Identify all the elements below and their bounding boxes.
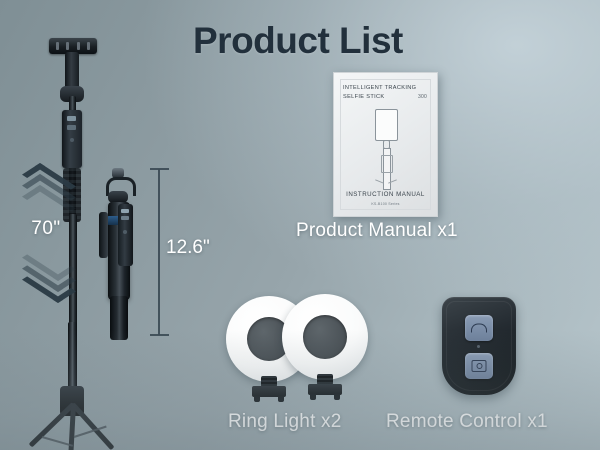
ring-light-mount-2 — [308, 374, 342, 400]
mount-foot-left-1 — [254, 396, 260, 402]
tripod-leg-left — [71, 402, 115, 450]
control-button-bottom — [67, 125, 76, 130]
product-list-infographic: Product List 70" — [0, 0, 600, 450]
height-dimension-70: 70" — [18, 168, 74, 298]
caption-product-manual: Product Manual x1 — [296, 220, 458, 242]
shutter-icon — [471, 324, 487, 333]
manual-cover-illustration — [369, 109, 403, 191]
camera-icon — [472, 360, 487, 372]
ring-light-inner-2 — [303, 315, 347, 359]
height-dimension-label: 70" — [18, 218, 74, 240]
folded-button-bottom — [121, 216, 129, 220]
selfie-stick-folded — [98, 168, 146, 340]
ring-light-mount-1 — [252, 376, 286, 402]
mount-foot-right-1 — [278, 396, 284, 402]
folded-side-clip — [99, 212, 108, 258]
caption-ring-light: Ring Light x2 — [228, 411, 342, 433]
remote-camera-button — [465, 353, 493, 379]
manual-cover-line2: SELFIE STICK — [343, 94, 385, 100]
remote-control-device — [442, 297, 516, 395]
illustration-grip — [381, 155, 393, 173]
mount-foot-left-2 — [310, 394, 316, 400]
length-dimension-label: 12.6" — [166, 237, 210, 259]
pole-segment-lower — [68, 322, 77, 392]
ring-light-2 — [282, 294, 368, 380]
folded-button-top — [121, 209, 129, 213]
manual-cover-code: 300 — [418, 94, 427, 100]
page-title: Product List — [193, 20, 403, 62]
length-dimension-126: 12.6" — [150, 167, 194, 337]
control-led — [70, 138, 74, 142]
control-button-top — [67, 116, 76, 121]
caption-remote-control: Remote Control x1 — [386, 411, 548, 433]
mount-foot-right-2 — [334, 394, 340, 400]
chevron-up-icon — [18, 168, 74, 210]
folded-control-panel — [118, 204, 133, 266]
remote-led — [477, 345, 480, 348]
folded-lower-shaft — [110, 296, 128, 340]
dimension-line — [158, 169, 160, 335]
chevron-down-icon — [18, 256, 74, 298]
folded-led — [123, 230, 127, 234]
manual-cover-line1: INTELLIGENT TRACKING — [343, 85, 416, 91]
remote-shutter-button — [465, 315, 493, 341]
illustration-phone — [375, 109, 398, 141]
product-manual-booklet: INTELLIGENT TRACKING SELFIE STICK 300 IN… — [333, 72, 438, 217]
manual-footer-line2: KS-B100 Series — [334, 202, 437, 206]
control-panel — [62, 110, 82, 168]
dimension-cap-bottom — [150, 334, 169, 336]
manual-footer-line1: INSTRUCTION MANUAL — [334, 191, 437, 198]
